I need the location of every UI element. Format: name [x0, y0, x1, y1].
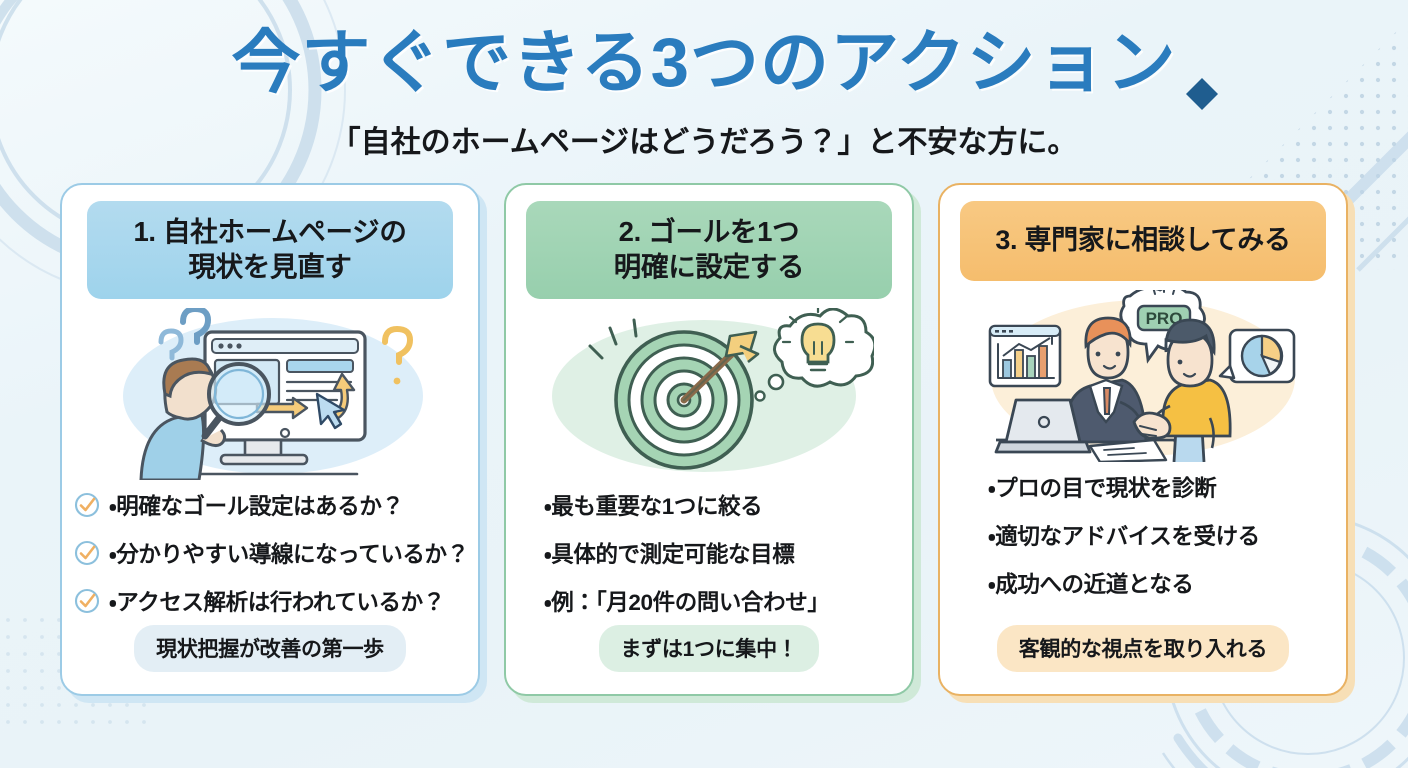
- card-2-illustration: [539, 305, 879, 483]
- person-magnifier-monitor-illustration: [105, 308, 435, 480]
- list-item: ・明確なゴール設定はあるか？: [74, 489, 460, 521]
- card-2-title-line-1: 2. ゴールを1つ: [619, 216, 800, 247]
- handshake-consultant-client-illustration: PRO: [978, 290, 1308, 462]
- action-card-2[interactable]: 2. ゴールを1つ 明確に設定する: [504, 183, 914, 696]
- card-1-title-line-1: 1. 自社ホームページの: [133, 216, 406, 247]
- action-card-1[interactable]: 1. 自社ホームページの 現状を見直す: [60, 183, 480, 696]
- action-cards-row: 1. 自社ホームページの 現状を見直す: [0, 161, 1408, 696]
- list-item: ・具体的で測定可能な目標: [544, 537, 894, 569]
- card-1-illustration: [100, 305, 440, 483]
- page-title: 今すぐできる3つのアクション: [0, 26, 1408, 101]
- list-item-label: ・明確なゴール設定はあるか？: [109, 489, 404, 521]
- list-item-label: ・具体的で測定可能な目標: [544, 537, 794, 569]
- list-item: ・適切なアドバイスを受ける: [988, 519, 1328, 551]
- card-3-bullet-list: ・プロの目で現状を診断 ・適切なアドバイスを受ける ・成功への近道となる: [940, 471, 1346, 624]
- list-item: ・分かりやすい導線になっているか？: [74, 537, 460, 569]
- list-item-label: ・分かりやすい導線になっているか？: [109, 537, 469, 569]
- bar-chart-panel-icon: [990, 326, 1060, 386]
- status-badge: まずは1つに集中！: [599, 625, 820, 672]
- list-item: ・最も重要な1つに絞る: [544, 489, 894, 521]
- pie-chart-bubble-icon: [1220, 330, 1294, 382]
- card-1-footer: 現状把握が改善の第一歩: [62, 625, 478, 694]
- status-badge: 客観的な視点を取り入れる: [997, 625, 1289, 672]
- card-3-title-line-1: 3. 専門家に相談してみる: [995, 225, 1290, 255]
- check-circle-icon: [74, 588, 100, 614]
- check-circle-icon: [74, 492, 100, 518]
- card-2-footer: まずは1つに集中！: [506, 625, 912, 694]
- page-header: 今すぐできる3つのアクション 「自社のホームページはどうだろう？」と不安な方に。: [0, 0, 1408, 161]
- check-circle-icon: [74, 540, 100, 566]
- status-badge: 現状把握が改善の第一歩: [134, 625, 406, 672]
- page-subtitle: 「自社のホームページはどうだろう？」と不安な方に。: [0, 117, 1408, 161]
- list-item: ・成功への近道となる: [988, 567, 1328, 599]
- card-3-footer: 客観的な視点を取り入れる: [940, 625, 1346, 694]
- list-item: ・プロの目で現状を診断: [988, 471, 1328, 503]
- list-item: ・アクセス解析は行われているか？: [74, 585, 460, 617]
- list-item-label: ・成功への近道となる: [988, 567, 1193, 599]
- card-1-title-line-2: 現状を見直す: [188, 251, 351, 282]
- action-card-3[interactable]: 3. 専門家に相談してみる: [938, 183, 1348, 696]
- card-2-title-line-2: 明確に設定する: [614, 251, 804, 282]
- card-3-header: 3. 専門家に相談してみる: [960, 201, 1326, 282]
- list-item: ・例：「月20件の問い合わせ」: [544, 585, 894, 617]
- list-item-label: ・アクセス解析は行われているか？: [109, 585, 445, 617]
- dartboard-arrow-lightbulb-illustration: [544, 308, 874, 480]
- list-item-label: ・プロの目で現状を診断: [988, 471, 1216, 503]
- list-item-label: ・適切なアドバイスを受ける: [988, 519, 1260, 551]
- card-1-bullet-list: ・明確なゴール設定はあるか？ ・分かりやすい導線になっているか？ ・アクセス解析…: [62, 489, 478, 625]
- list-item-label: ・最も重要な1つに絞る: [544, 489, 762, 521]
- card-2-header: 2. ゴールを1つ 明確に設定する: [526, 201, 892, 299]
- card-1-header: 1. 自社ホームページの 現状を見直す: [87, 201, 453, 299]
- card-2-bullet-list: ・最も重要な1つに絞る ・具体的で測定可能な目標 ・例：「月20件の問い合わせ」: [506, 489, 912, 625]
- list-item-label: ・例：「月20件の問い合わせ」: [544, 585, 829, 617]
- card-3-illustration: PRO: [973, 287, 1313, 465]
